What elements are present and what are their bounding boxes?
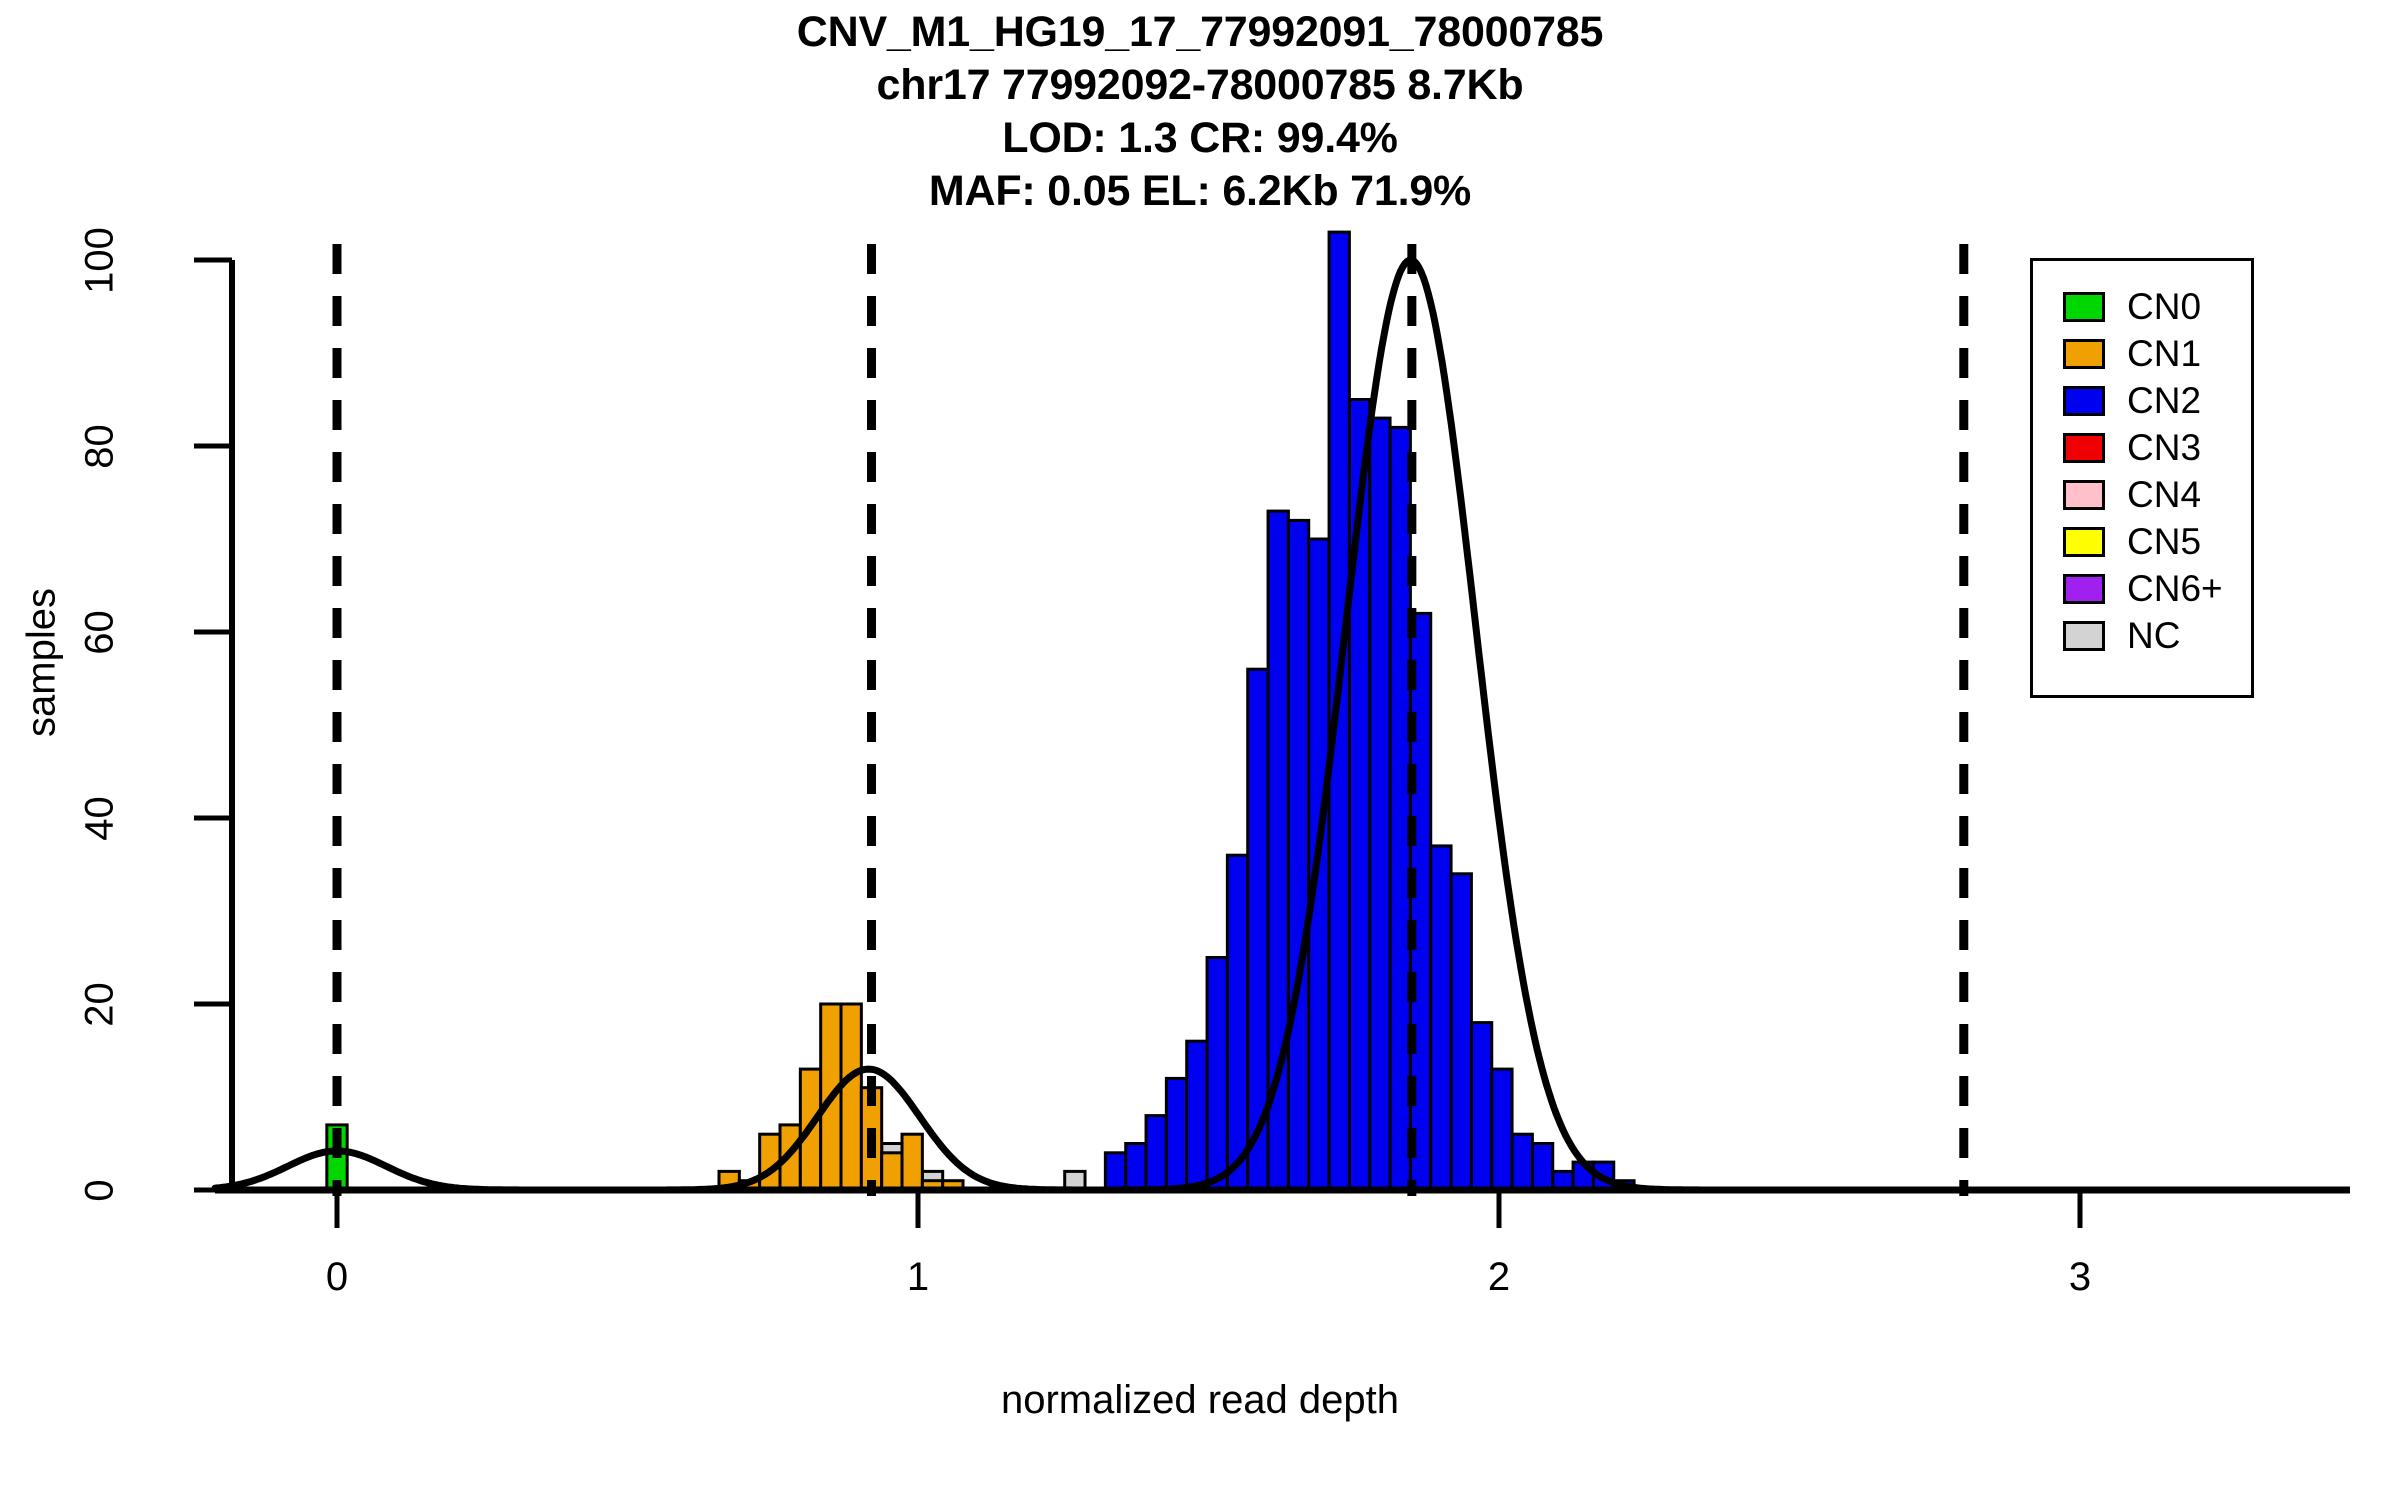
y-tick-label: 80	[78, 392, 123, 502]
histogram-bar-cn1	[882, 1153, 902, 1190]
cnv-histogram-figure: CNV_M1_HG19_17_77992091_78000785 chr17 7…	[0, 0, 2400, 1500]
histogram-bar-cn1	[841, 1004, 861, 1190]
legend-item-cn1[interactable]: CN1	[2063, 330, 2251, 377]
histogram-bar-cn2	[1105, 1153, 1125, 1190]
legend-item-label: CN6+	[2127, 570, 2223, 607]
histogram-bar-cn2	[1187, 1041, 1207, 1190]
legend-item-label: CN2	[2127, 382, 2201, 419]
legend-item-cn4[interactable]: CN4	[2063, 471, 2251, 518]
legend-swatch-icon	[2063, 292, 2105, 322]
histogram-bar-cn2	[1451, 874, 1471, 1190]
legend-item-label: CN1	[2127, 335, 2201, 372]
x-tick-label: 0	[297, 1255, 377, 1300]
histogram-bar-cn2	[1227, 855, 1247, 1190]
histogram-bar-cn2	[1492, 1069, 1512, 1190]
legend-item-label: CN5	[2127, 523, 2201, 560]
legend-item-label: CN4	[2127, 476, 2201, 513]
y-tick-label: 0	[78, 1136, 123, 1246]
histogram-bar-cn1	[902, 1134, 922, 1190]
legend-swatch-icon	[2063, 574, 2105, 604]
reference-lines-group	[337, 244, 1964, 1196]
legend-item-cn3[interactable]: CN3	[2063, 424, 2251, 471]
legend-swatch-icon	[2063, 339, 2105, 369]
plot-area: 0123020406080100	[0, 0, 2400, 1500]
y-tick-label: 20	[78, 950, 123, 1060]
legend-item-label: NC	[2127, 617, 2180, 654]
histogram-bar-cn2	[1471, 1023, 1491, 1190]
histogram-bars-group	[327, 232, 1634, 1190]
y-tick-label: 40	[78, 764, 123, 874]
histogram-bar-cn2	[1512, 1134, 1532, 1190]
histogram-bar-cn2	[1390, 427, 1410, 1190]
y-tick-label: 60	[78, 578, 123, 688]
histogram-bar-cn2	[1370, 418, 1390, 1190]
y-tick-label: 100	[78, 206, 123, 316]
legend-swatch-icon	[2063, 621, 2105, 651]
histogram-bar-cn2	[1207, 958, 1227, 1191]
histogram-bar-cn2	[1166, 1078, 1186, 1190]
histogram-bar-cn2	[1126, 1144, 1146, 1191]
histogram-bar-cn2	[1431, 846, 1451, 1190]
x-tick-label: 3	[2040, 1255, 2120, 1300]
legend-swatch-icon	[2063, 433, 2105, 463]
legend-swatch-icon	[2063, 480, 2105, 510]
legend-box: CN0CN1CN2CN3CN4CN5CN6+NC	[2030, 258, 2254, 698]
histogram-bar-cn2	[1146, 1116, 1166, 1190]
legend-item-label: CN0	[2127, 288, 2201, 325]
legend-item-cn0[interactable]: CN0	[2063, 283, 2251, 330]
x-tick-label: 1	[878, 1255, 958, 1300]
legend-item-label: CN3	[2127, 429, 2201, 466]
x-tick-label: 2	[1459, 1255, 1539, 1300]
legend-item-cn6plus[interactable]: CN6+	[2063, 565, 2251, 612]
legend-swatch-icon	[2063, 527, 2105, 557]
legend-swatch-icon	[2063, 386, 2105, 416]
histogram-bar-cn2	[1288, 520, 1308, 1190]
histogram-bar-cn2	[1532, 1144, 1552, 1191]
legend-item-nc[interactable]: NC	[2063, 612, 2251, 659]
legend-item-cn5[interactable]: CN5	[2063, 518, 2251, 565]
legend-item-cn2[interactable]: CN2	[2063, 377, 2251, 424]
